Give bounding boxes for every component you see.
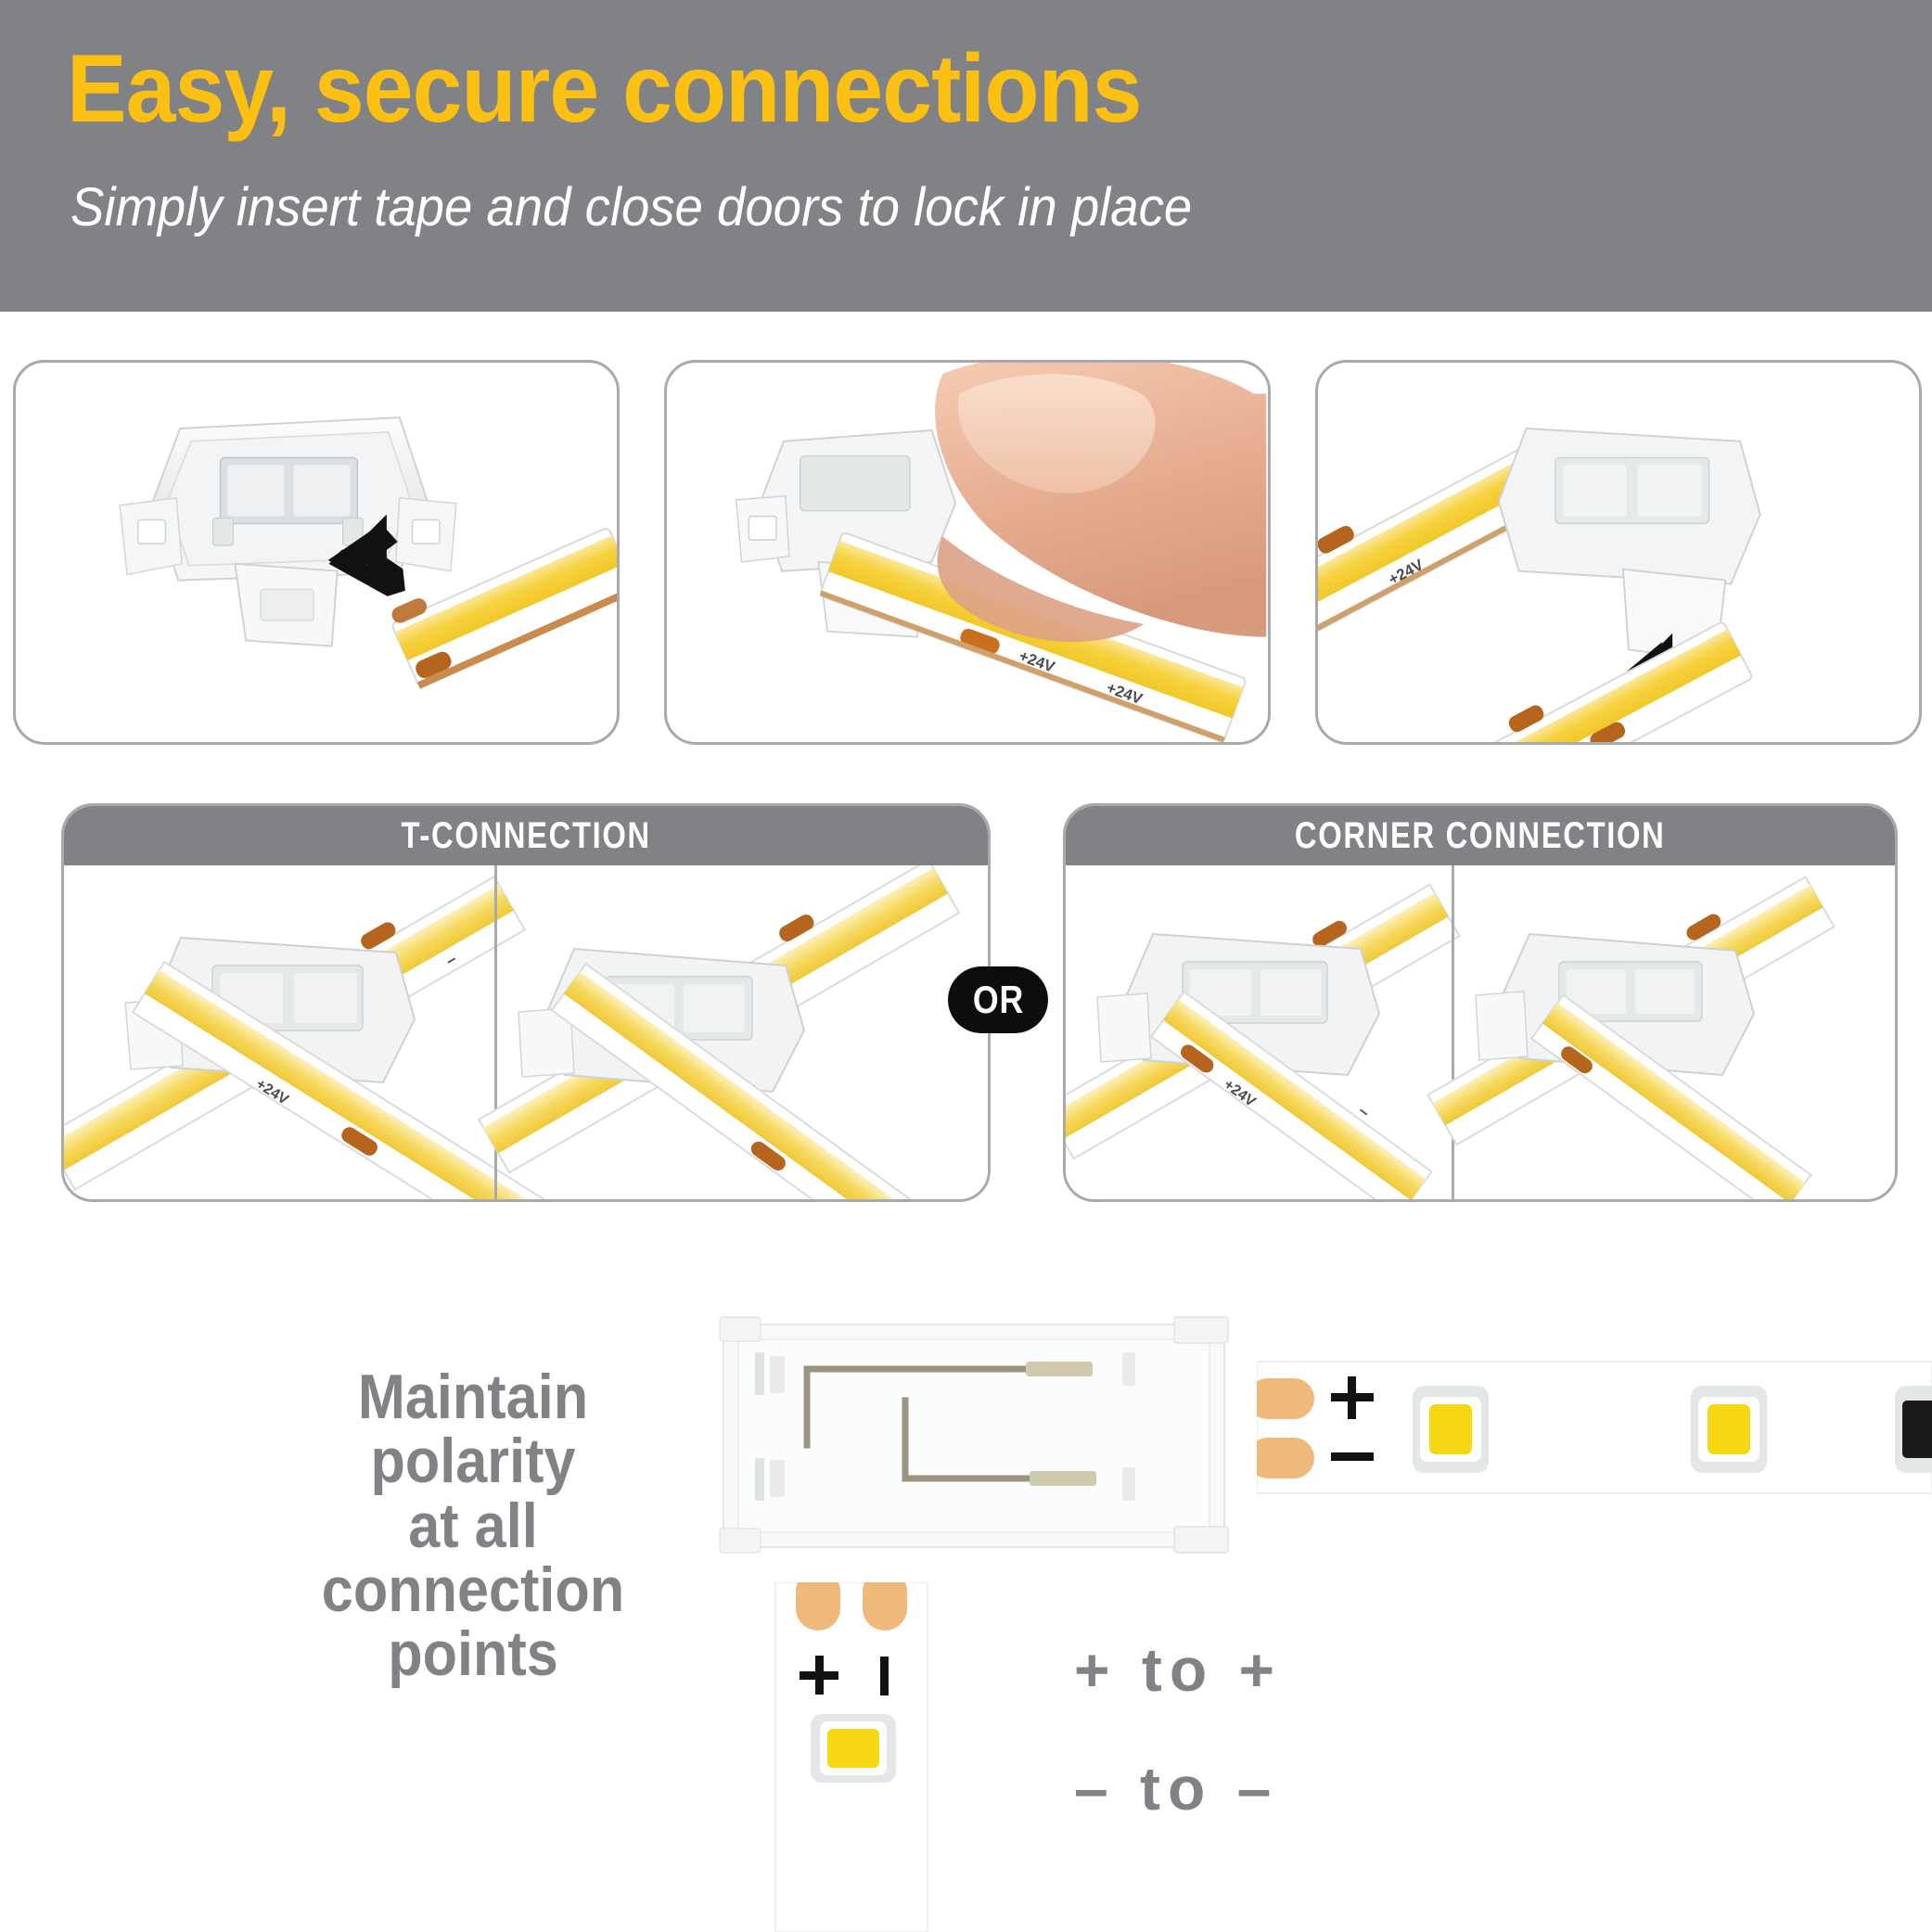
step2-illustration: +24V +24V [667, 363, 1268, 742]
connector-topdown-photo [714, 1315, 1234, 1556]
polarity-line-1: Maintain [289, 1365, 657, 1429]
infographic-page: Easy, secure connections Simply insert t… [0, 0, 1932, 1932]
polarity-line-5: points [289, 1622, 657, 1686]
corner-connection-body: +24V – [1066, 865, 1895, 1199]
corner-connection-panel: CORNER CONNECTION [1063, 803, 1898, 1202]
led-strip-vertical [759, 1582, 944, 1932]
or-badge-label: OR [972, 978, 1023, 1022]
t-connection-panel: T-CONNECTION +24V [61, 803, 991, 1202]
step-panel-2: +24V +24V [664, 360, 1271, 745]
smd-led [1413, 1386, 1489, 1473]
t-connection-illustration: +24V – [64, 865, 988, 1199]
or-badge: OR [948, 966, 1048, 1033]
polarity-line-2: polarity [289, 1429, 657, 1493]
polarity-rule-minus: – to – [1074, 1753, 1278, 1823]
t-connection-body: +24V – [64, 865, 988, 1199]
polarity-line-4: connection [289, 1558, 657, 1622]
t-connection-label: T-CONNECTION [401, 815, 650, 857]
polarity-instruction: Maintain polarity at all connection poin… [289, 1365, 657, 1687]
header-banner: Easy, secure connections Simply insert t… [0, 0, 1932, 312]
page-title: Easy, secure connections [67, 39, 1142, 140]
led-strip-horizontal [1257, 1347, 1932, 1514]
step-panel-1 [13, 360, 620, 745]
page-subtitle: Simply insert tape and close doors to lo… [70, 176, 1192, 238]
t-connection-header: T-CONNECTION [64, 806, 988, 865]
polarity-rule-plus: + to + [1074, 1634, 1282, 1705]
corner-connection-header: CORNER CONNECTION [1066, 806, 1895, 865]
thumb-photo [935, 363, 1266, 642]
polarity-line-3: at all [289, 1494, 657, 1558]
step1-illustration [16, 363, 617, 742]
smd-led-unlit [1895, 1386, 1932, 1473]
smd-led [811, 1714, 896, 1783]
smd-led [1691, 1386, 1767, 1473]
corner-connection-label: CORNER CONNECTION [1295, 815, 1666, 857]
corner-connection-illustration: +24V – [1066, 865, 1895, 1199]
step-panel-3: +24V +24V [1315, 360, 1922, 745]
step3-illustration: +24V +24V [1318, 363, 1919, 742]
